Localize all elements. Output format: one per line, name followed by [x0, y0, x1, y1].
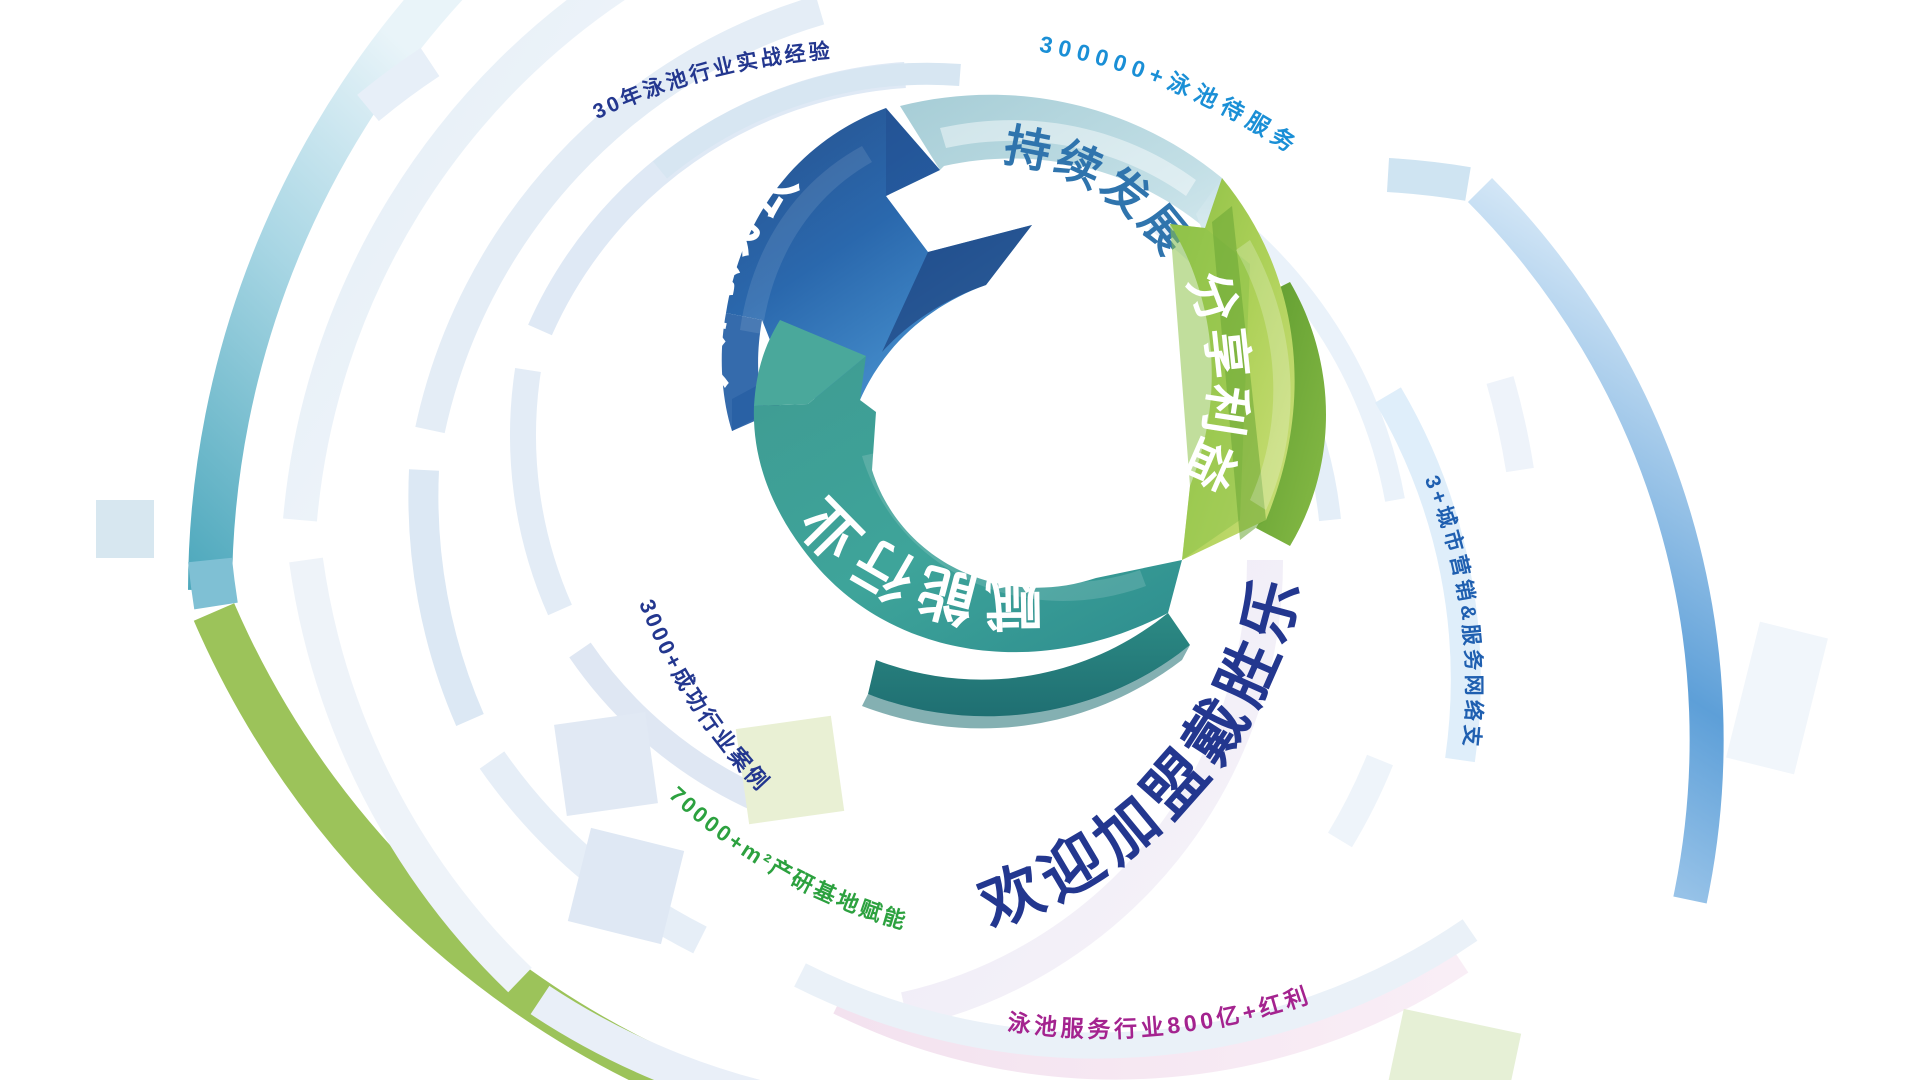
label-experience: 30年泳池行业实战经验: [590, 39, 834, 124]
orbit-labels-layer: 30年泳池行业实战经验 300000+泳池待服务 53+城市营销&服务网络支持 …: [0, 0, 1920, 1080]
poster-canvas: 共同成长 持续发展 分享利益: [0, 0, 1920, 1080]
label-base: 70000+m²产研基地赋能: [664, 781, 911, 934]
label-dividend: 泳池服务行业800亿+红利: [1006, 981, 1315, 1042]
label-pools: 300000+泳池待服务: [1038, 31, 1305, 160]
label-cases: 3000+成功行业案例: [634, 596, 775, 797]
headline-join: 欢迎加盟戴胜乐: [970, 564, 1316, 941]
